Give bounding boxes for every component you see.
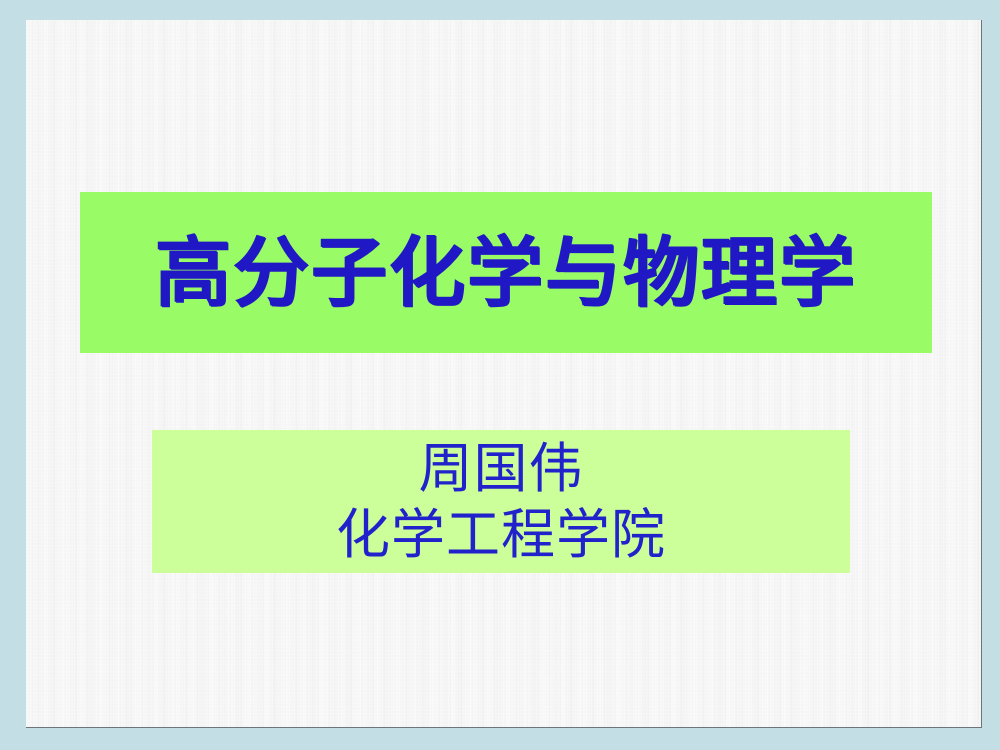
slide-outer-frame: 高分子化学与物理学 周国伟 化学工程学院 (0, 0, 1000, 750)
subtitle-banner: 周国伟 化学工程学院 (152, 430, 850, 573)
subtitle-author: 周国伟 (419, 436, 584, 502)
slide-canvas: 高分子化学与物理学 周国伟 化学工程学院 (26, 20, 982, 728)
subtitle-affiliation: 化学工程学院 (336, 502, 666, 568)
paper-texture-overlay (26, 20, 981, 727)
title-banner: 高分子化学与物理学 (80, 192, 932, 353)
slide-title: 高分子化学与物理学 (155, 235, 857, 311)
